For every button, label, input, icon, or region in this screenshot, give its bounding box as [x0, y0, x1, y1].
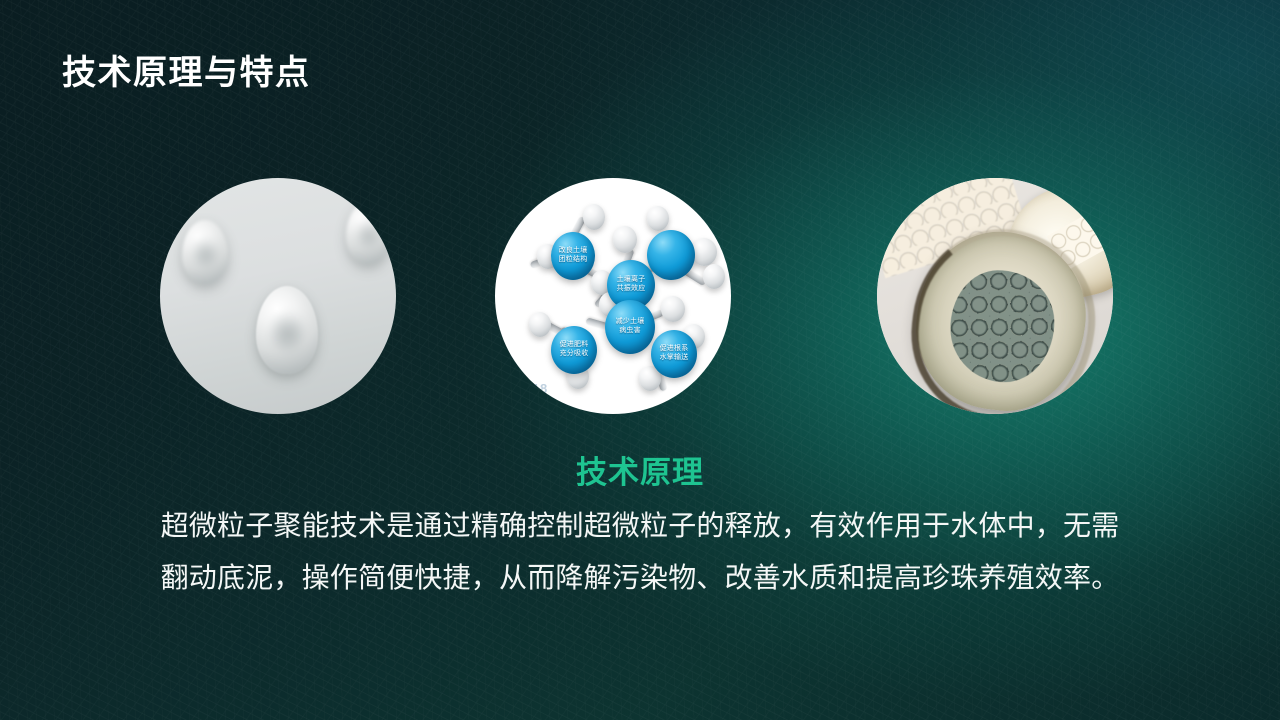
body-copy: 超微粒子聚能技术是通过精确控制超微粒子的释放，有效作用于水体中，无需 翻动底泥，…	[90, 500, 1190, 604]
molecule-atom-white	[613, 226, 637, 253]
pearl-shape	[256, 286, 318, 374]
section-heading: 技术原理	[0, 447, 1280, 492]
oyster-scene	[877, 178, 1113, 414]
molecule-diagram-image: 改良土壤团粒结构 土壤离子共振效应 减少土壤病虫害 促进肥料充分吸收 促进根系水…	[495, 178, 731, 414]
molecule-atom-blue: 改良土壤团粒结构	[551, 232, 595, 280]
white-pearls-image	[160, 178, 396, 414]
oyster-pearls-image	[877, 178, 1113, 414]
molecule-atom-label: 促进肥料充分吸收	[551, 326, 597, 374]
body-line: 翻动底泥，操作简便快捷，从而降解污染物、改善水质和提高珍珠养殖效率。	[90, 552, 1190, 604]
molecule-scene: 改良土壤团粒结构 土壤离子共振效应 减少土壤病虫害 促进肥料充分吸收 促进根系水…	[495, 178, 731, 414]
molecule-atom-label: 改良土壤团粒结构	[551, 232, 595, 280]
molecule-atom-label: 促进根系水掌输送	[651, 330, 697, 378]
molecule-atom-blue: 促进根系水掌输送	[651, 330, 697, 378]
molecule-watermark: -2018	[512, 381, 548, 396]
molecule-atom-white	[703, 264, 725, 289]
molecule-atom-white	[583, 204, 605, 230]
molecule-atom-label: 减少土壤病虫害	[605, 300, 655, 354]
molecule-atom-white	[647, 206, 669, 231]
molecule-atom-white	[661, 296, 685, 322]
page-title: 技术原理与特点	[62, 53, 311, 94]
pearl-scene	[160, 178, 396, 414]
molecule-atom-blue: 促进肥料充分吸收	[551, 326, 597, 374]
pearl-shadow-spot	[271, 314, 304, 353]
body-line: 超微粒子聚能技术是通过精确控制超微粒子的释放，有效作用于水体中，无需	[90, 500, 1190, 552]
molecule-atom-blue: 减少土壤病虫害	[605, 300, 655, 354]
pearl-shape	[346, 202, 390, 264]
pearl-shape	[182, 220, 228, 284]
molecule-atom-white	[529, 312, 551, 337]
pearl-shadow-spot	[193, 240, 218, 268]
slide-canvas: 技术原理与特点	[0, 0, 1280, 720]
pearl-shadow-spot	[357, 222, 381, 249]
